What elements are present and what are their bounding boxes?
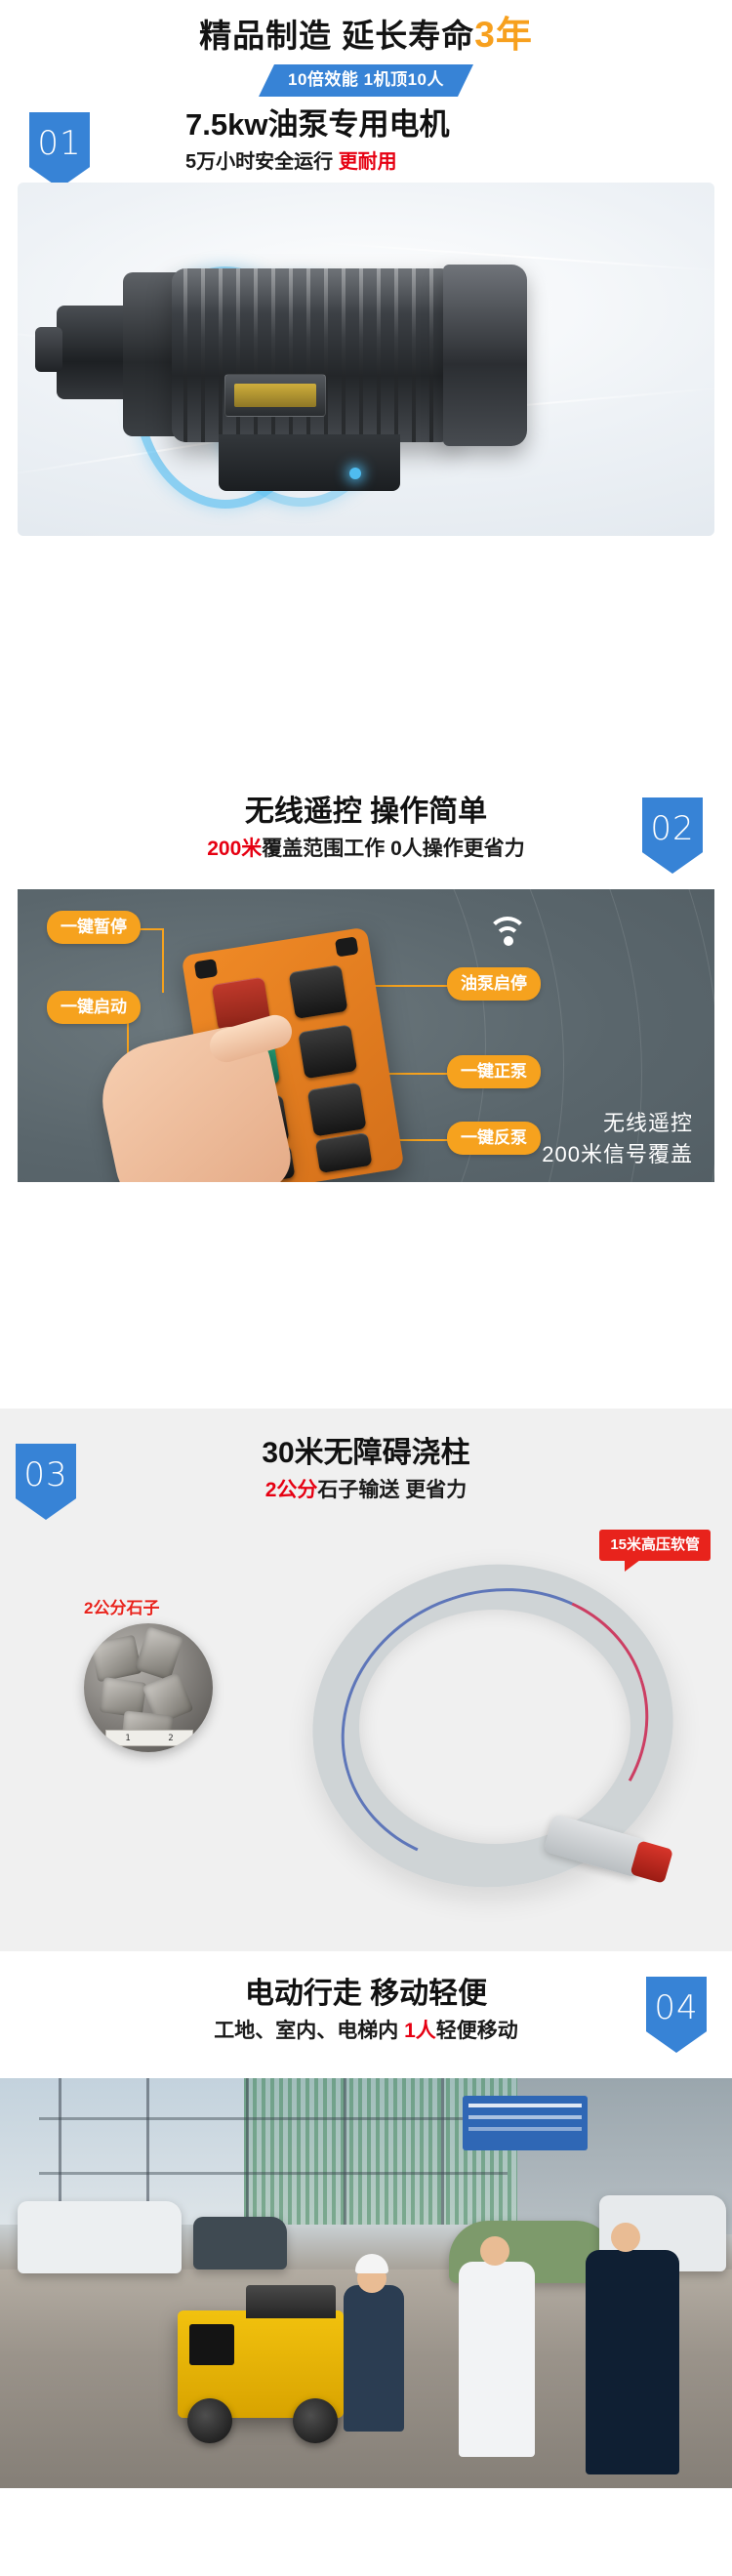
section-02-sub-red: 200米 (207, 838, 262, 860)
section-01-badge: 01 (29, 112, 90, 188)
worker-helmet-icon (355, 2254, 388, 2273)
section-04-subtitle: 工地、室内、电梯内 1人轻便移动 (0, 2016, 732, 2047)
section-02: 02 无线遥控 操作简单 200米覆盖范围工作 0人操作更省力 (0, 780, 732, 1366)
key-reverse (307, 1083, 367, 1137)
site-info-board (463, 2096, 588, 2150)
jobsite-photo (0, 2078, 732, 2488)
parked-van-white (18, 2201, 182, 2273)
scaffold-pole-5 (441, 2078, 444, 2225)
worker-white-shirt (459, 2262, 535, 2457)
scaffold-rail-1 (39, 2117, 508, 2120)
page-title-main: 精品制造 延长寿命 (199, 18, 474, 54)
section-04-title: 电动行走 移动轻便 (0, 1973, 732, 2016)
section-01-sub-plain: 5万小时安全运行 (185, 151, 339, 173)
key-pump-toggle (289, 964, 348, 1019)
section-03-subtitle: 2公分石子输送 更省力 (0, 1475, 732, 1506)
section-03-badge: 03 (16, 1444, 76, 1520)
callout-pump-toggle: 油泵启停 (447, 967, 541, 1001)
label-stone-size: 2公分石子 (84, 1594, 159, 1618)
header-ribbon-wrap: 10倍效能 1机顶10人 (0, 64, 732, 97)
worker-white-shirt-head (480, 2236, 509, 2266)
callout-reverse-pump: 一键反泵 (447, 1122, 541, 1155)
caption-line-2: 200米信号覆盖 (542, 1139, 693, 1170)
section-04-sub-plain-2: 轻便移动 (436, 2020, 518, 2042)
ruler-mark-1: 1 (125, 1734, 130, 1743)
indicator-led (349, 468, 361, 479)
section-03-head: 03 30米无障碍浇柱 2公分石子输送 更省力 (0, 1366, 732, 1506)
header-ribbon: 10倍效能 1机顶10人 (259, 64, 473, 97)
product-detail-page: 精品制造 延长寿命3年 10倍效能 1机顶10人 01 7.5kw油泵专用电机 … (0, 0, 732, 2574)
machine-control-panel (189, 2324, 234, 2365)
stone-sample-photo: 1 2 (84, 1623, 213, 1752)
page-title-accent: 3年 (474, 15, 533, 55)
section-01: 01 7.5kw油泵专用电机 5万小时安全运行 更耐用 (0, 97, 732, 780)
section-04-sub-plain-1: 工地、室内、电梯内 (214, 2020, 404, 2042)
parked-car-dark (193, 2217, 287, 2269)
section-01-subtitle: 5万小时安全运行 更耐用 (185, 147, 449, 177)
section-03: 03 30米无障碍浇柱 2公分石子输送 更省力 15米高压软管 2公分石子 1 (0, 1366, 732, 1951)
section-03-sub-red: 2公分 (265, 1479, 318, 1501)
remote-control-photo: 一键暂停 一键启动 油泵启停 一键正泵 一键反泵 无线遥控 200米信号覆盖 (18, 889, 714, 1182)
stone-ruler: 1 2 (105, 1730, 193, 1746)
motor-rear-cap (443, 265, 527, 446)
motor-base-foot (219, 434, 400, 491)
scaffold-rail-2 (39, 2172, 508, 2175)
section-04-head: 04 电动行走 移动轻便 工地、室内、电梯内 1人轻便移动 (0, 1951, 732, 2047)
section-03-title: 30米无障碍浇柱 (0, 1432, 732, 1475)
section-04: 04 电动行走 移动轻便 工地、室内、电梯内 1人轻便移动 (0, 1951, 732, 2576)
key-spare-3 (315, 1132, 373, 1173)
photo-caption: 无线遥控 200米信号覆盖 (542, 1108, 693, 1170)
section-02-head: 02 无线遥控 操作简单 200米覆盖范围工作 0人操作更省力 (0, 780, 732, 897)
worker-pushing (344, 2285, 404, 2432)
machine-hopper (246, 2285, 336, 2318)
tag-hose-length: 15米高压软管 (599, 1530, 711, 1561)
caption-line-1: 无线遥控 (542, 1108, 693, 1139)
section-03-sub-plain: 石子输送 更省力 (317, 1479, 467, 1501)
wifi-icon (486, 911, 537, 954)
motor-nameplate (234, 384, 316, 407)
page-title: 精品制造 延长寿命3年 (0, 14, 732, 58)
section-02-sub-plain: 覆盖范围工作 0人操作更省力 (262, 838, 525, 860)
scaffold-pole-3 (246, 2078, 249, 2225)
worker-dark-shirt (586, 2250, 679, 2474)
scaffold-pole-4 (344, 2078, 346, 2225)
hose-photo: 15米高压软管 2公分石子 1 2 (0, 1551, 732, 1922)
section-01-text: 7.5kw油泵专用电机 5万小时安全运行 更耐用 (185, 104, 449, 177)
section-01-title: 7.5kw油泵专用电机 (185, 104, 449, 145)
section-02-subtitle: 200米覆盖范围工作 0人操作更省力 (0, 834, 732, 865)
ruler-mark-2: 2 (168, 1734, 173, 1743)
screw-right (335, 936, 359, 957)
machine-wheel-right (293, 2398, 338, 2443)
worker-dark-shirt-head (611, 2223, 640, 2252)
callout-start: 一键启动 (47, 991, 141, 1024)
machine-wheel-left (187, 2398, 232, 2443)
lead-pause-v (162, 928, 164, 993)
callout-forward-pump: 一键正泵 (447, 1055, 541, 1088)
callout-pause: 一键暂停 (47, 911, 141, 944)
section-04-sub-red: 1人 (404, 2020, 436, 2042)
key-forward (298, 1024, 357, 1079)
section-02-title: 无线遥控 操作简单 (0, 780, 732, 833)
motor-photo (18, 183, 714, 536)
screw-left (194, 959, 219, 979)
section-01-sub-red: 更耐用 (339, 151, 397, 173)
page-header: 精品制造 延长寿命3年 10倍效能 1机顶10人 (0, 0, 732, 97)
